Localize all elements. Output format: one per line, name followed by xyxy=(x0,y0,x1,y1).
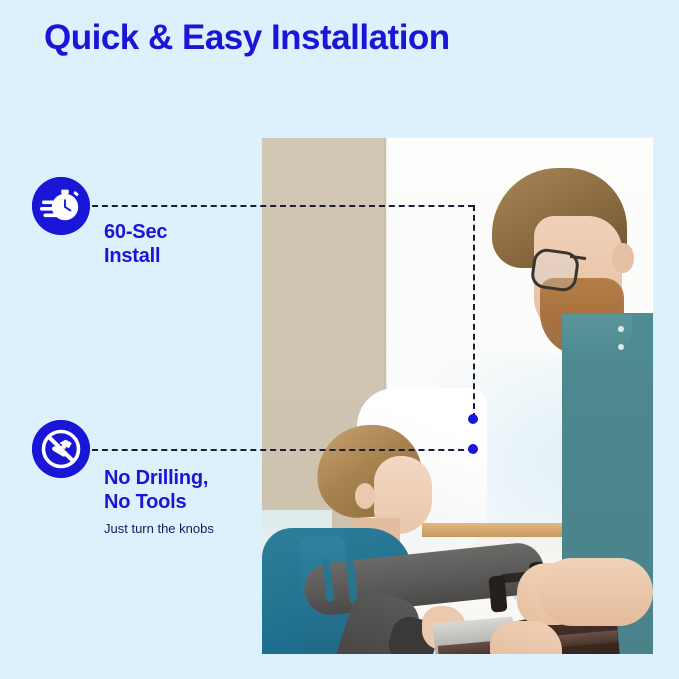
photo-adult-glasses xyxy=(529,247,580,293)
feature-2-title: No Drilling, No Tools xyxy=(104,466,214,515)
feature-1-title-line-2: Install xyxy=(104,245,160,267)
feature-2-subtitle: Just turn the knobs xyxy=(104,520,214,538)
feature-1-title-line-1: 60-Sec xyxy=(104,221,167,243)
feature-2-title-line-1: No Drilling, xyxy=(104,467,208,489)
no-tools-icon xyxy=(32,420,90,478)
stopwatch-icon xyxy=(32,177,90,235)
connector-line-feature-1-horizontal xyxy=(92,205,474,207)
connector-endpoint-dot-1 xyxy=(468,414,478,424)
product-photo xyxy=(262,138,653,654)
photo-adult-button xyxy=(618,326,624,332)
feature-2-title-line-2: No Tools xyxy=(104,491,186,513)
connector-line-feature-2-horizontal xyxy=(92,449,474,451)
connector-line-feature-1-vertical xyxy=(473,205,475,419)
feature-1-text: 60-Sec Install xyxy=(104,220,167,269)
feature-1-title: 60-Sec Install xyxy=(104,220,167,269)
photo-adult-ear xyxy=(612,243,634,273)
photo-bed-wood-rail xyxy=(422,523,562,537)
photo-product-knob xyxy=(488,575,507,612)
feature-2-text: No Drilling, No Tools Just turn the knob… xyxy=(104,466,214,537)
connector-endpoint-dot-2 xyxy=(468,444,478,454)
product-infographic: Quick & Easy Installation xyxy=(0,0,679,679)
photo-adult-forearm xyxy=(538,558,653,626)
photo-child-ear xyxy=(355,483,375,509)
page-title: Quick & Easy Installation xyxy=(44,18,450,58)
photo-adult-button xyxy=(618,344,624,350)
